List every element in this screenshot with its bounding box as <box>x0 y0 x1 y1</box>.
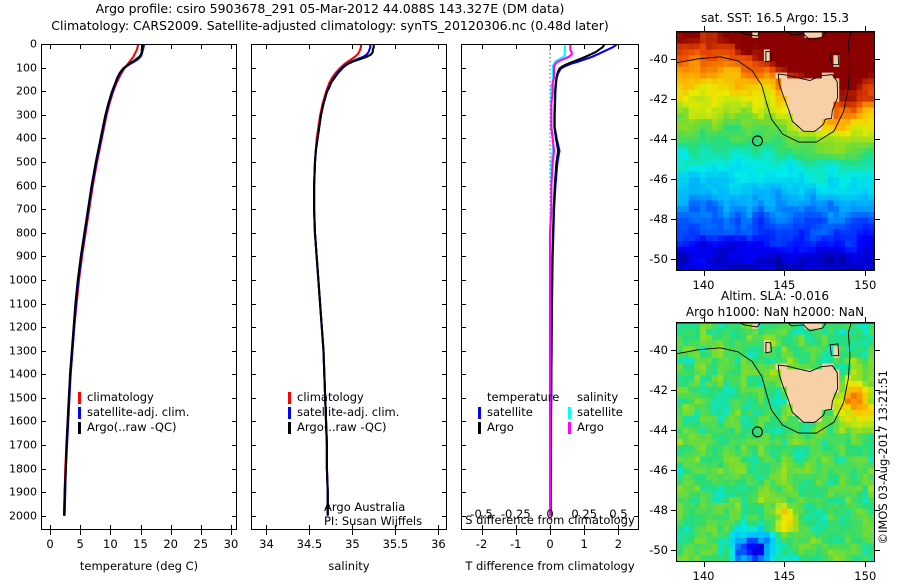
depth-tick <box>461 351 466 352</box>
legend-swatch <box>78 392 81 404</box>
depth-tick <box>232 469 237 470</box>
depth-tick <box>461 516 466 517</box>
depth-tick <box>232 327 237 328</box>
x-tick-label: 35.5 <box>383 537 409 551</box>
depth-tick <box>461 209 466 210</box>
legend-label: Argo(..raw -QC) <box>87 420 177 435</box>
depth-tick <box>442 304 447 305</box>
depth-tick <box>461 91 466 92</box>
lat-tick <box>875 219 880 220</box>
depth-tick <box>232 115 237 116</box>
depth-tick-label: 1700 <box>0 439 37 452</box>
depth-tick <box>251 44 256 45</box>
lon-tick-label: 150 <box>854 278 876 292</box>
difference-legend-temperature: temperaturesatelliteArgo <box>478 390 559 435</box>
legend-swatch <box>78 422 81 434</box>
legend-label: satellite <box>487 405 533 420</box>
depth-tick <box>251 351 256 352</box>
depth-tick <box>461 398 466 399</box>
lon-tick <box>704 562 705 567</box>
salinity-profile-plot <box>252 45 446 529</box>
temperature-profile-panel[interactable] <box>41 44 237 530</box>
x-tick-top-label: 0.5 <box>609 507 627 521</box>
depth-tick <box>251 327 256 328</box>
x-tick <box>309 530 310 535</box>
depth-tick <box>442 492 447 493</box>
lat-tick <box>671 99 676 100</box>
depth-tick <box>251 68 256 69</box>
x-tick <box>231 530 232 535</box>
depth-tick-label: 1300 <box>0 344 37 357</box>
lat-tick-label: -46 <box>634 172 668 186</box>
depth-tick <box>634 233 639 234</box>
lat-tick <box>671 550 676 551</box>
x-tick <box>482 530 483 535</box>
depth-tick <box>251 421 256 422</box>
depth-tick-label: 0 <box>0 38 37 51</box>
lat-tick <box>671 350 676 351</box>
attribution-line-2: PI: Susan Wijffels <box>324 514 422 528</box>
depth-tick <box>251 445 256 446</box>
depth-tick-label: 300 <box>0 108 37 121</box>
depth-tick <box>232 351 237 352</box>
depth-tick <box>461 138 466 139</box>
x-tick-top <box>482 44 483 49</box>
x-tick-top <box>438 44 439 49</box>
temperature-legend: climatologysatellite-adj. clim.Argo(..ra… <box>78 390 189 435</box>
depth-tick-label: 1200 <box>0 321 37 334</box>
x-tick-top <box>395 44 396 49</box>
lat-tick <box>875 99 880 100</box>
lat-tick <box>875 550 880 551</box>
depth-tick <box>251 209 256 210</box>
lon-tick <box>704 271 705 276</box>
temperature-profile-plot <box>42 45 236 529</box>
depth-tick <box>442 280 447 281</box>
depth-tick <box>232 233 237 234</box>
x-tick <box>201 530 202 535</box>
depth-tick <box>461 469 466 470</box>
lon-tick <box>865 26 866 31</box>
depth-tick <box>41 374 46 375</box>
sst-map[interactable] <box>676 31 875 271</box>
depth-tick <box>442 138 447 139</box>
depth-tick <box>251 398 256 399</box>
depth-tick <box>232 374 237 375</box>
depth-tick <box>442 327 447 328</box>
depth-tick <box>461 233 466 234</box>
depth-tick-label: 1000 <box>0 273 37 286</box>
depth-tick <box>41 209 46 210</box>
attribution-note: Argo Australia PI: Susan Wijffels <box>324 500 422 528</box>
depth-tick <box>41 91 46 92</box>
legend-row: satellite <box>568 405 623 420</box>
lat-tick <box>875 59 880 60</box>
lon-tick <box>704 26 705 31</box>
depth-tick <box>442 445 447 446</box>
x-tick <box>80 530 81 535</box>
lat-tick <box>671 470 676 471</box>
lon-tick <box>865 317 866 322</box>
depth-tick <box>232 280 237 281</box>
depth-tick <box>634 44 639 45</box>
depth-tick <box>232 91 237 92</box>
x-tick-top <box>309 44 310 49</box>
depth-tick <box>41 115 46 116</box>
depth-tick <box>251 516 256 517</box>
x-tick-top-label: -0.25 <box>501 507 531 521</box>
depth-tick <box>461 280 466 281</box>
depth-tick <box>41 304 46 305</box>
sst-map-title: sat. SST: 16.5 Argo: 15.3 <box>665 10 885 26</box>
lat-tick <box>875 179 880 180</box>
depth-tick <box>442 516 447 517</box>
lon-tick <box>865 562 866 567</box>
lat-tick <box>671 430 676 431</box>
x-tick-label: 10 <box>103 537 118 551</box>
lat-tick-label: -50 <box>634 543 668 557</box>
depth-tick <box>251 374 256 375</box>
depth-tick <box>442 374 447 375</box>
legend-swatch <box>568 407 571 419</box>
difference-legend-salinity: salinitysatelliteArgo <box>568 390 623 435</box>
depth-tick <box>442 256 447 257</box>
depth-tick-label: 1400 <box>0 368 37 381</box>
depth-tick <box>232 186 237 187</box>
depth-tick <box>461 44 466 45</box>
depth-tick <box>251 469 256 470</box>
legend-title: temperature <box>487 390 559 405</box>
lon-tick-label: 140 <box>693 569 715 583</box>
x-tick-label: 15 <box>133 537 148 551</box>
lon-tick <box>784 317 785 322</box>
depth-tick <box>232 256 237 257</box>
lon-tick <box>784 26 785 31</box>
lat-tick <box>875 259 880 260</box>
lat-tick <box>671 59 676 60</box>
x-tick-top <box>266 44 267 49</box>
depth-tick <box>251 115 256 116</box>
x-tick-top <box>516 44 517 49</box>
legend-label: satellite-adj. clim. <box>297 405 399 420</box>
lon-tick <box>784 562 785 567</box>
sla-map-canvas <box>677 323 874 561</box>
depth-tick-label: 700 <box>0 203 37 216</box>
depth-tick-label: 1800 <box>0 462 37 475</box>
legend-row: satellite <box>478 405 559 420</box>
x-tick <box>395 530 396 535</box>
sla-map-title: Altim. SLA: -0.016 Argo h1000: NaN h2000… <box>665 288 885 320</box>
depth-tick <box>442 91 447 92</box>
x-tick-top <box>171 44 172 49</box>
depth-tick <box>442 233 447 234</box>
lat-tick <box>875 470 880 471</box>
depth-tick <box>41 516 46 517</box>
depth-tick <box>251 280 256 281</box>
depth-tick <box>442 186 447 187</box>
x-tick-top <box>352 44 353 49</box>
figure-title: Argo profile: csiro 5903678_291 05-Mar-2… <box>0 0 660 34</box>
depth-tick <box>41 351 46 352</box>
depth-tick <box>461 304 466 305</box>
lat-tick <box>671 390 676 391</box>
legend-swatch <box>288 392 291 404</box>
lat-tick-label: -44 <box>634 132 668 146</box>
depth-tick-label: 100 <box>0 61 37 74</box>
depth-tick <box>461 256 466 257</box>
sla-map[interactable] <box>676 322 875 562</box>
depth-tick <box>442 421 447 422</box>
lat-tick-label: -50 <box>634 252 668 266</box>
legend-label: climatology <box>297 390 364 405</box>
depth-tick <box>232 162 237 163</box>
lon-tick <box>865 271 866 276</box>
x-tick <box>584 530 585 535</box>
depth-tick <box>41 68 46 69</box>
depth-tick <box>634 374 639 375</box>
salinity-profile-panel[interactable] <box>251 44 447 530</box>
depth-tick-label: 800 <box>0 226 37 239</box>
lat-tick-label: -46 <box>634 463 668 477</box>
legend-swatch <box>288 422 291 434</box>
lat-tick-label: -48 <box>634 503 668 517</box>
legend-swatch <box>478 422 481 434</box>
depth-tick <box>634 115 639 116</box>
depth-tick <box>251 256 256 257</box>
depth-tick-label: 400 <box>0 132 37 145</box>
legend-swatch <box>568 422 571 434</box>
sst-map-canvas <box>677 32 874 270</box>
depth-tick <box>442 115 447 116</box>
lon-tick-label: 150 <box>854 569 876 583</box>
x-tick-label: 35 <box>345 537 360 551</box>
x-tick <box>516 530 517 535</box>
lat-tick-label: -44 <box>634 423 668 437</box>
lat-tick <box>875 430 880 431</box>
depth-tick <box>41 186 46 187</box>
x-tick-label: 30 <box>224 537 239 551</box>
lon-tick-label: 145 <box>773 569 795 583</box>
depth-tick <box>232 304 237 305</box>
lat-tick-label: -48 <box>634 212 668 226</box>
difference-profile-panel[interactable] <box>461 44 639 530</box>
depth-tick <box>634 327 639 328</box>
depth-tick <box>634 209 639 210</box>
x-tick-top <box>110 44 111 49</box>
legend-swatch <box>288 407 291 419</box>
depth-tick <box>251 233 256 234</box>
depth-tick <box>634 304 639 305</box>
x-tick-label: 0 <box>546 537 553 551</box>
x-tick-top-label: -0.5 <box>470 507 492 521</box>
depth-tick <box>41 327 46 328</box>
lat-tick <box>671 179 676 180</box>
depth-tick <box>442 44 447 45</box>
x-tick-label: -1 <box>510 537 521 551</box>
depth-tick <box>41 469 46 470</box>
depth-tick <box>442 209 447 210</box>
x-tick-label: -2 <box>476 537 487 551</box>
x-tick-label: 36 <box>431 537 446 551</box>
depth-tick <box>461 68 466 69</box>
depth-tick <box>41 398 46 399</box>
depth-tick <box>232 398 237 399</box>
legend-label: satellite <box>577 405 623 420</box>
depth-tick <box>251 304 256 305</box>
depth-tick-label: 200 <box>0 85 37 98</box>
depth-tick <box>41 44 46 45</box>
lat-tick <box>875 139 880 140</box>
legend-row: climatology <box>78 390 189 405</box>
legend-row: Argo <box>478 420 559 435</box>
sla-title-line-2: Argo h1000: NaN h2000: NaN <box>665 304 885 320</box>
x-tick-top-label: 0.25 <box>571 507 597 521</box>
depth-tick <box>442 398 447 399</box>
lat-tick <box>671 219 676 220</box>
lat-tick-label: -40 <box>634 52 668 66</box>
depth-tick <box>634 492 639 493</box>
depth-tick <box>41 280 46 281</box>
x-tick-label: 5 <box>77 537 84 551</box>
lat-tick <box>671 510 676 511</box>
x-tick-top <box>584 44 585 49</box>
depth-tick <box>461 327 466 328</box>
depth-tick <box>41 233 46 234</box>
lat-tick-label: -42 <box>634 92 668 106</box>
title-line-1: Argo profile: csiro 5903678_291 05-Mar-2… <box>0 0 660 17</box>
x-tick <box>141 530 142 535</box>
depth-tick <box>634 162 639 163</box>
depth-tick <box>461 492 466 493</box>
depth-tick <box>634 68 639 69</box>
imos-credit: ©IMOS 03-Aug-2017 13:21:51 <box>876 370 890 545</box>
x-tick <box>352 530 353 535</box>
x-tick-top <box>618 44 619 49</box>
lon-tick <box>704 317 705 322</box>
x-tick-top <box>201 44 202 49</box>
depth-tick <box>41 421 46 422</box>
legend-label: Argo(..raw -QC) <box>297 420 387 435</box>
depth-tick <box>461 115 466 116</box>
x-tick-top <box>50 44 51 49</box>
legend-label: satellite-adj. clim. <box>87 405 189 420</box>
depth-tick <box>232 516 237 517</box>
legend-row: satellite-adj. clim. <box>288 405 399 420</box>
x-tick-top <box>231 44 232 49</box>
depth-tick-label: 2000 <box>0 509 37 522</box>
x-tick-label: 34.5 <box>297 537 323 551</box>
x-tick-top-label: 0 <box>546 507 553 521</box>
depth-tick <box>442 162 447 163</box>
x-tick-top <box>141 44 142 49</box>
depth-tick-label: 1900 <box>0 486 37 499</box>
depth-tick <box>232 445 237 446</box>
x-tick-label: 25 <box>193 537 208 551</box>
legend-row: Argo(..raw -QC) <box>288 420 399 435</box>
lat-tick-label: -42 <box>634 383 668 397</box>
depth-tick <box>232 421 237 422</box>
legend-label: climatology <box>87 390 154 405</box>
x-tick-top <box>80 44 81 49</box>
difference-profile-plot <box>462 45 638 529</box>
depth-tick <box>41 138 46 139</box>
x-tick <box>110 530 111 535</box>
lat-tick <box>875 390 880 391</box>
depth-tick <box>41 162 46 163</box>
depth-tick <box>232 138 237 139</box>
legend-label: Argo <box>487 420 514 435</box>
legend-row: Argo(..raw -QC) <box>78 420 189 435</box>
x-tick-label: 20 <box>163 537 178 551</box>
depth-tick <box>251 492 256 493</box>
depth-tick-label: 900 <box>0 250 37 263</box>
x-tick-top <box>550 44 551 49</box>
lat-tick <box>671 259 676 260</box>
x-tick <box>550 530 551 535</box>
legend-swatch <box>478 407 481 419</box>
depth-tick <box>634 280 639 281</box>
depth-tick-label: 1600 <box>0 415 37 428</box>
depth-tick <box>232 492 237 493</box>
depth-tick <box>634 445 639 446</box>
depth-tick <box>251 162 256 163</box>
legend-row: satellite-adj. clim. <box>78 405 189 420</box>
depth-tick <box>232 209 237 210</box>
lat-tick <box>875 510 880 511</box>
depth-tick <box>251 91 256 92</box>
lat-tick <box>671 139 676 140</box>
legend-row: Argo <box>568 420 623 435</box>
x-tick <box>50 530 51 535</box>
lat-tick <box>875 350 880 351</box>
depth-tick <box>41 256 46 257</box>
depth-tick-label: 1100 <box>0 297 37 310</box>
lon-tick <box>784 271 785 276</box>
salinity-axis-label: salinity <box>251 559 447 573</box>
attribution-line-1: Argo Australia <box>324 500 422 514</box>
depth-tick <box>461 421 466 422</box>
x-tick-label: 34 <box>259 537 274 551</box>
depth-tick <box>461 445 466 446</box>
legend-swatch <box>78 407 81 419</box>
depth-tick-label: 500 <box>0 155 37 168</box>
t-difference-axis-label: T difference from climatology <box>461 559 639 573</box>
depth-tick <box>251 138 256 139</box>
salinity-legend: climatologysatellite-adj. clim.Argo(..ra… <box>288 390 399 435</box>
x-tick-label: 2 <box>615 537 622 551</box>
depth-tick <box>442 68 447 69</box>
legend-label: Argo <box>577 420 604 435</box>
depth-tick <box>251 186 256 187</box>
depth-tick <box>442 469 447 470</box>
depth-tick-label: 600 <box>0 179 37 192</box>
legend-title: salinity <box>577 390 623 405</box>
depth-tick <box>41 492 46 493</box>
depth-tick <box>232 68 237 69</box>
depth-tick <box>461 186 466 187</box>
x-tick <box>438 530 439 535</box>
temperature-axis-label: temperature (deg C) <box>41 559 237 573</box>
depth-tick <box>442 351 447 352</box>
legend-row: climatology <box>288 390 399 405</box>
depth-tick <box>634 398 639 399</box>
x-tick-label: 1 <box>581 537 588 551</box>
lat-tick-label: -40 <box>634 343 668 357</box>
depth-tick <box>461 374 466 375</box>
x-tick <box>266 530 267 535</box>
depth-tick-label: 1500 <box>0 391 37 404</box>
depth-tick <box>232 44 237 45</box>
